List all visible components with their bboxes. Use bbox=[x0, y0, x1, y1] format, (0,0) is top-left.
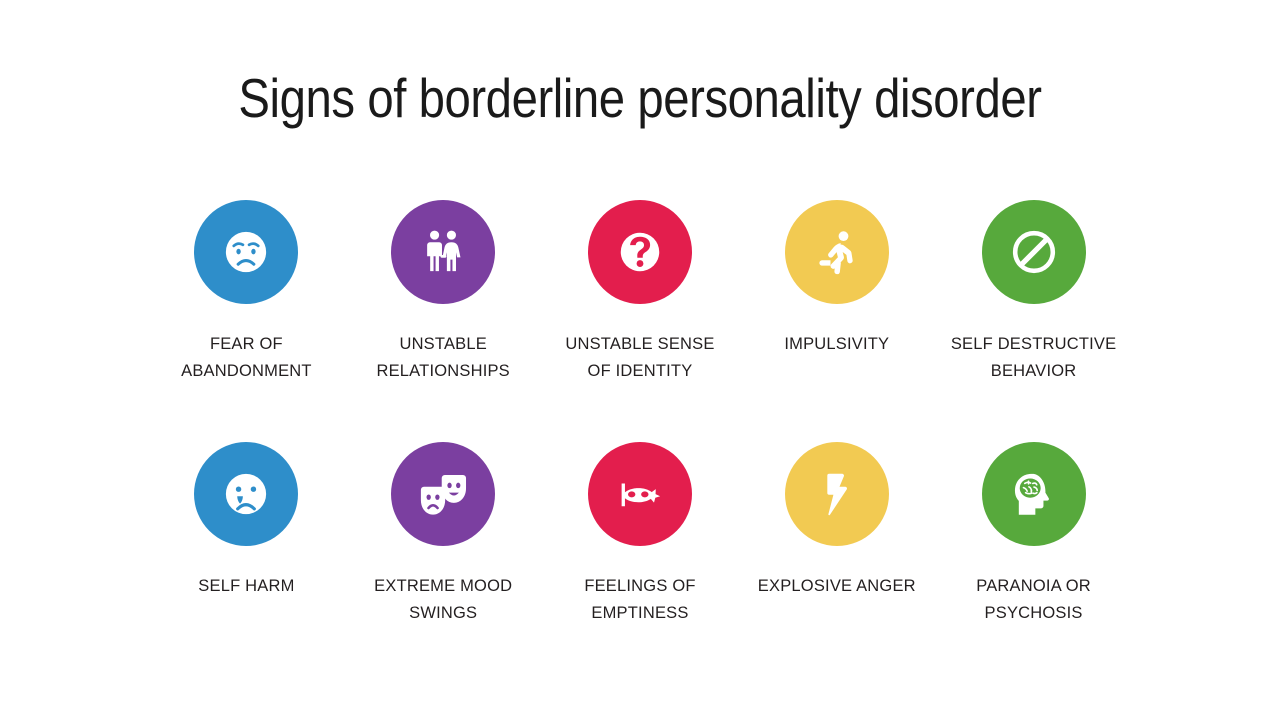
couple-icon bbox=[416, 225, 470, 279]
sign-item-self-destructive-behavior[interactable]: SELF DESTRUCTIVE BEHAVIOR bbox=[935, 200, 1132, 442]
empty-vessel-icon bbox=[612, 466, 668, 522]
crying-face-icon bbox=[218, 466, 274, 522]
icon-badge-blue bbox=[194, 200, 298, 304]
icon-badge-blue bbox=[194, 442, 298, 546]
sign-item-impulsivity[interactable]: IMPULSIVITY bbox=[738, 200, 935, 442]
sign-label: SELF DESTRUCTIVE BEHAVIOR bbox=[951, 331, 1116, 384]
question-mark-icon bbox=[612, 224, 668, 280]
sign-label: EXPLOSIVE ANGER bbox=[758, 573, 916, 600]
running-person-icon bbox=[811, 226, 863, 278]
sign-item-feelings-of-emptiness[interactable]: FEELINGS OF EMPTINESS bbox=[542, 442, 739, 684]
worried-face-icon bbox=[218, 224, 274, 280]
prohibition-icon bbox=[1006, 224, 1062, 280]
sign-label: UNSTABLE RELATIONSHIPS bbox=[376, 331, 509, 384]
icon-badge-yellow bbox=[785, 442, 889, 546]
icon-badge-green bbox=[982, 442, 1086, 546]
icon-badge-purple bbox=[391, 442, 495, 546]
signs-grid: FEAR OF ABANDONMENT bbox=[148, 200, 1132, 684]
sign-item-self-harm[interactable]: SELF HARM bbox=[148, 442, 345, 684]
sign-label: UNSTABLE SENSE OF IDENTITY bbox=[565, 331, 714, 384]
page-title: Signs of borderline personality disorder bbox=[90, 66, 1191, 130]
sign-label: PARANOIA OR PSYCHOSIS bbox=[976, 573, 1091, 626]
icon-badge-green bbox=[982, 200, 1086, 304]
sign-item-extreme-mood-swings[interactable]: EXTREME MOOD SWINGS bbox=[345, 442, 542, 684]
icon-badge-yellow bbox=[785, 200, 889, 304]
sign-item-paranoia-or-psychosis[interactable]: PARANOIA OR PSYCHOSIS bbox=[935, 442, 1132, 684]
icon-badge-crimson bbox=[588, 442, 692, 546]
sign-label: SELF HARM bbox=[198, 573, 294, 600]
sign-label: FEELINGS OF EMPTINESS bbox=[584, 573, 695, 626]
icon-badge-crimson bbox=[588, 200, 692, 304]
sign-label: IMPULSIVITY bbox=[784, 331, 889, 358]
sign-label: FEAR OF ABANDONMENT bbox=[181, 331, 312, 384]
sign-item-unstable-relationships[interactable]: UNSTABLE RELATIONSHIPS bbox=[345, 200, 542, 442]
head-brain-icon bbox=[1007, 467, 1061, 521]
sign-label: EXTREME MOOD SWINGS bbox=[374, 573, 512, 626]
sign-item-unstable-sense-of-identity[interactable]: UNSTABLE SENSE OF IDENTITY bbox=[542, 200, 739, 442]
infographic-slide: Signs of borderline personality disorder… bbox=[0, 0, 1280, 721]
sign-item-explosive-anger[interactable]: EXPLOSIVE ANGER bbox=[738, 442, 935, 684]
lightning-bolt-icon bbox=[812, 469, 862, 519]
icon-badge-purple bbox=[391, 200, 495, 304]
theater-masks-icon bbox=[414, 465, 472, 523]
sign-item-fear-of-abandonment[interactable]: FEAR OF ABANDONMENT bbox=[148, 200, 345, 442]
